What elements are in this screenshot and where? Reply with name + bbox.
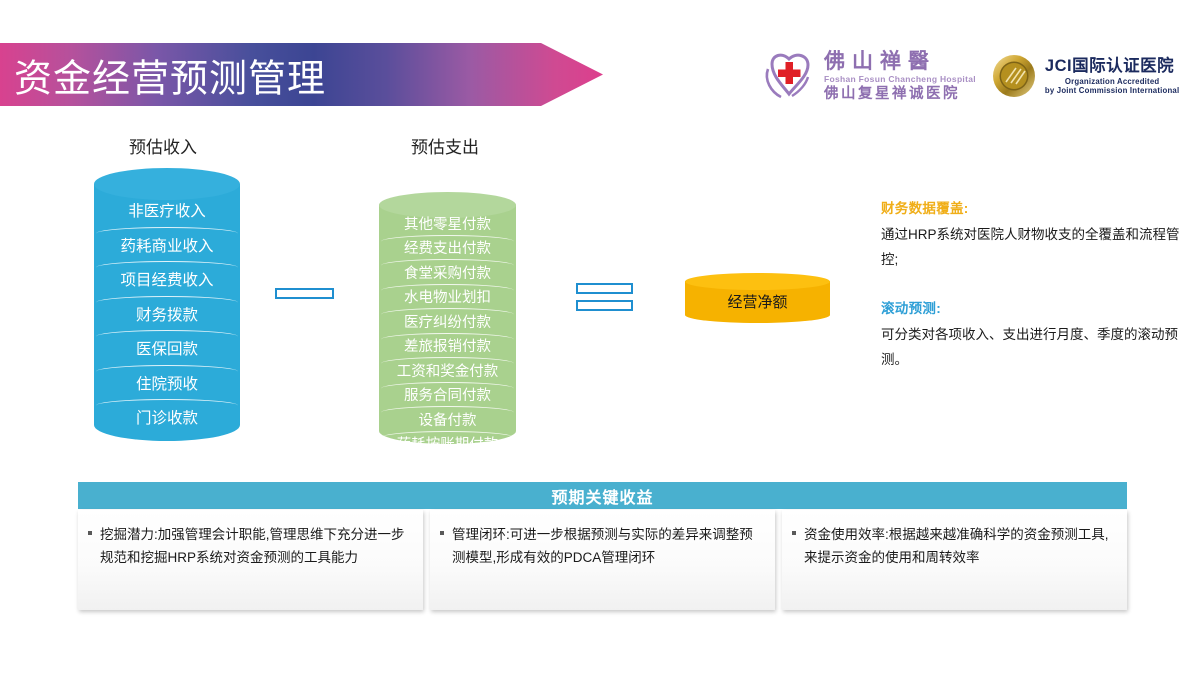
- hospital-logo: 佛山禅醫 Foshan Fosun Chancheng Hospital 佛山复…: [762, 50, 976, 102]
- benefit-card-text: 管理闭环:可进一步根据预测与实际的差异来调整预测模型,形成有效的PDCA管理闭环: [452, 523, 761, 569]
- jci-title: JCI国际认证医院: [1045, 57, 1179, 75]
- benefits-panel: 预期关键收益 挖掘潜力:加强管理会计职能,管理思维下充分进一步规范和挖掘HRP系…: [78, 482, 1127, 610]
- benefit-card: 资金使用效率:根据越来越准确科学的资金预测工具,来提示资金的使用和周转效率: [782, 510, 1127, 610]
- cylinder-item-label: 药耗商业收入: [120, 234, 213, 256]
- bullet-square-icon: [88, 531, 92, 535]
- cylinder-item-label: 住院预收: [136, 372, 198, 394]
- cylinder-item: 财务拨款: [94, 297, 240, 332]
- cylinder-item-label: 差旅报销付款: [404, 335, 491, 356]
- cylinder-item-label: 药耗按账期付款: [397, 433, 499, 454]
- jci-logo-text: JCI国际认证医院 Organization Accredited by Joi…: [1045, 57, 1179, 96]
- expense-cylinder: 其他零星付款经费支出付款食堂采购付款水电物业划扣医疗纠纷付款差旅报销付款工资和奖…: [379, 192, 516, 444]
- cylinder-item-label: 设备付款: [419, 409, 477, 430]
- income-cylinder: 非医疗收入药耗商业收入项目经费收入财务拨款医保回款住院预收门诊收款: [94, 168, 240, 441]
- net-result-label: 经营净额: [685, 286, 830, 316]
- cylinder-item: 服务合同付款: [379, 383, 516, 408]
- cylinder-item-label: 经费支出付款: [404, 237, 491, 258]
- logo-area: 佛山禅醫 Foshan Fosun Chancheng Hospital 佛山复…: [762, 40, 1192, 112]
- minus-operator-icon: [275, 288, 334, 299]
- cylinder-item-label: 项目经费收入: [120, 268, 213, 290]
- benefit-card-text: 资金使用效率:根据越来越准确科学的资金预测工具,来提示资金的使用和周转效率: [804, 523, 1113, 569]
- cylinder-item: 水电物业划扣: [379, 285, 516, 310]
- hospital-name-en: Foshan Fosun Chancheng Hospital: [824, 75, 976, 84]
- cylinder-item-label: 医保回款: [136, 337, 198, 359]
- notes-panel: 财务数据覆盖: 通过HRP系统对医院人财物收支的全覆盖和流程管控; 滚动预测: …: [881, 197, 1181, 373]
- cylinder-item-label: 服务合同付款: [404, 384, 491, 405]
- cylinder-item: 医疗纠纷付款: [379, 309, 516, 334]
- benefit-card: 挖掘潜力:加强管理会计职能,管理思维下充分进一步规范和挖掘HRP系统对资金预测的…: [78, 510, 423, 610]
- cylinder-item-label: 工资和奖金付款: [397, 360, 499, 381]
- cylinder-item: 非医疗收入: [94, 193, 240, 228]
- cylinder-item-label: 水电物业划扣: [404, 286, 491, 307]
- cylinder-item: 设备付款: [379, 407, 516, 432]
- note-block-1: 财务数据覆盖: 通过HRP系统对医院人财物收支的全覆盖和流程管控;: [881, 197, 1181, 273]
- cylinder-item: 工资和奖金付款: [379, 358, 516, 383]
- cylinder-item-label: 非医疗收入: [128, 199, 206, 221]
- benefit-card-text: 挖掘潜力:加强管理会计职能,管理思维下充分进一步规范和挖掘HRP系统对资金预测的…: [100, 523, 409, 569]
- cylinder-item: 医保回款: [94, 331, 240, 366]
- cylinder-item: 食堂采购付款: [379, 260, 516, 285]
- benefit-card-list: 挖掘潜力:加强管理会计职能,管理思维下充分进一步规范和挖掘HRP系统对资金预测的…: [78, 510, 1127, 610]
- benefits-header: 预期关键收益: [78, 482, 1127, 509]
- cylinder-item-label: 其他零星付款: [404, 213, 491, 234]
- bullet-square-icon: [792, 531, 796, 535]
- cylinder-item-label: 医疗纠纷付款: [404, 311, 491, 332]
- note-body: 通过HRP系统对医院人财物收支的全覆盖和流程管控;: [881, 223, 1181, 273]
- cylinder-item-label: 食堂采购付款: [404, 262, 491, 283]
- cylinder-item-label: 财务拨款: [136, 303, 198, 325]
- heart-cross-icon: [762, 50, 818, 102]
- cylinder-item: 药耗商业收入: [94, 228, 240, 263]
- cylinder-item-label: 门诊收款: [136, 406, 198, 428]
- expense-item-list: 其他零星付款经费支出付款食堂采购付款水电物业划扣医疗纠纷付款差旅报销付款工资和奖…: [379, 211, 516, 456]
- income-caption: 预估收入: [129, 133, 197, 158]
- cylinder-item: 药耗按账期付款: [379, 432, 516, 457]
- cylinder-item: 其他零星付款: [379, 211, 516, 236]
- expense-caption: 预估支出: [411, 133, 479, 158]
- jci-subtitle-line2: by Joint Commission International: [1045, 87, 1179, 96]
- bullet-square-icon: [440, 531, 444, 535]
- note-heading: 财务数据覆盖:: [881, 197, 1181, 217]
- gold-medal-icon: [992, 54, 1036, 98]
- note-spacer: [881, 273, 1181, 297]
- note-heading: 滚动预测:: [881, 297, 1181, 317]
- net-result-cylinder: 经营净额: [685, 273, 830, 321]
- cylinder-item: 住院预收: [94, 366, 240, 401]
- equals-operator-icon-bottom: [576, 300, 633, 311]
- cylinder-item: 项目经费收入: [94, 262, 240, 297]
- note-block-2: 滚动预测: 可分类对各项收入、支出进行月度、季度的滚动预测。: [881, 297, 1181, 373]
- cylinder-item: 差旅报销付款: [379, 334, 516, 359]
- page-title: 资金经营预测管理: [14, 47, 326, 102]
- hospital-logo-text: 佛山禅醫 Foshan Fosun Chancheng Hospital 佛山复…: [824, 51, 976, 101]
- benefit-card: 管理闭环:可进一步根据预测与实际的差异来调整预测模型,形成有效的PDCA管理闭环: [430, 510, 775, 610]
- cylinder-item: 门诊收款: [94, 400, 240, 435]
- hospital-name-cn: 佛山禅醫: [824, 51, 976, 72]
- hospital-name-cn-sub: 佛山复星禅诚医院: [824, 87, 976, 102]
- cylinder-item: 经费支出付款: [379, 236, 516, 261]
- equals-operator-icon-top: [576, 283, 633, 294]
- title-banner: 资金经营预测管理: [0, 43, 603, 106]
- income-item-list: 非医疗收入药耗商业收入项目经费收入财务拨款医保回款住院预收门诊收款: [94, 193, 240, 435]
- jci-logo: JCI国际认证医院 Organization Accredited by Joi…: [992, 54, 1179, 98]
- note-body: 可分类对各项收入、支出进行月度、季度的滚动预测。: [881, 323, 1181, 373]
